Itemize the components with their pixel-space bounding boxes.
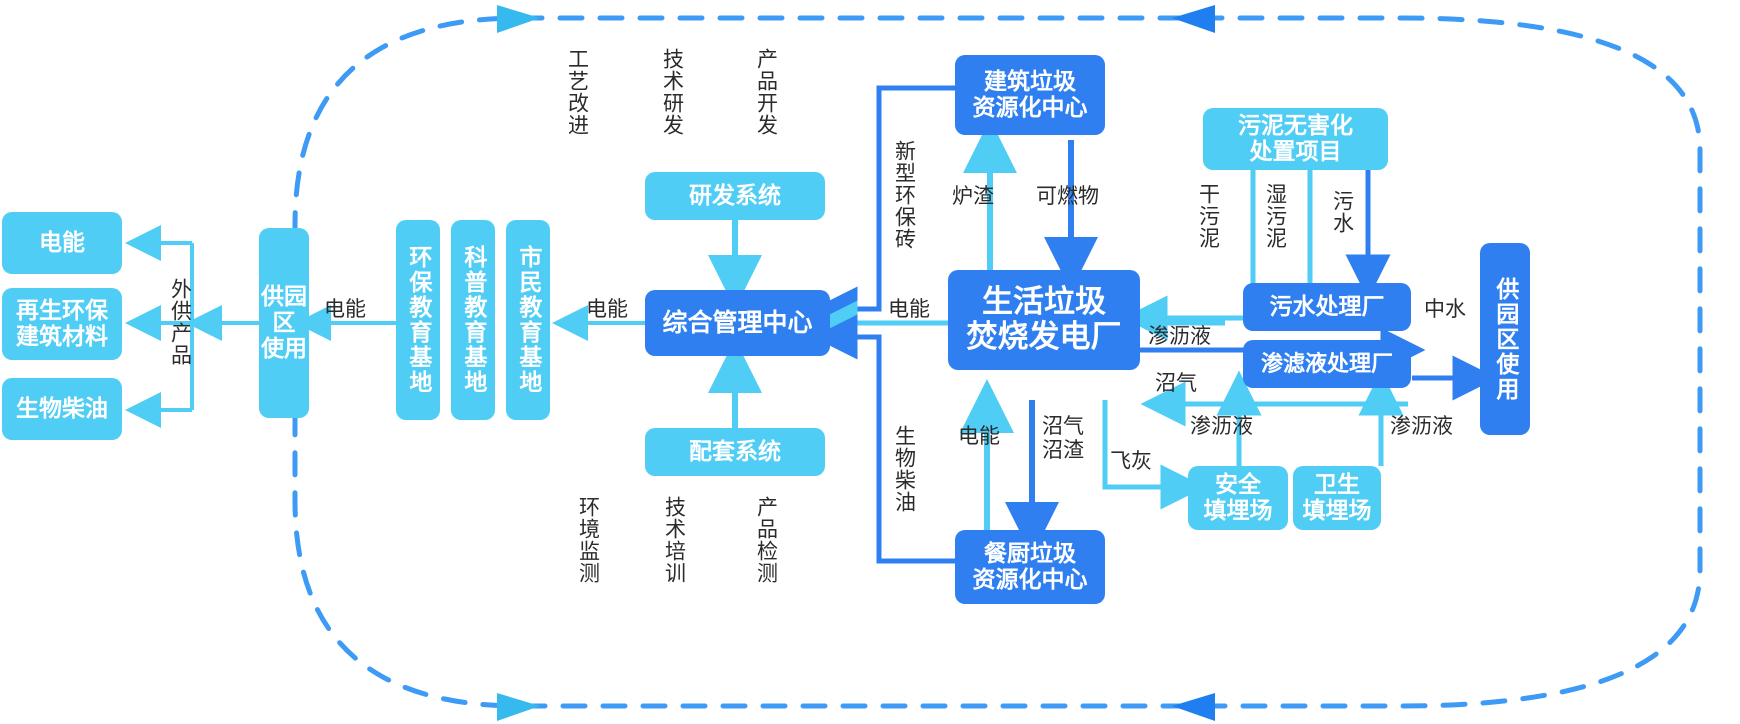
- node-label: 研发系统: [689, 183, 781, 209]
- node-label: 环保教育基地: [405, 245, 431, 395]
- node-label: 科普教育基地: [460, 245, 486, 395]
- node-label: 配套系统: [689, 439, 781, 465]
- label-leachate-3: 渗沥液: [1390, 415, 1453, 439]
- node-label: 供园区 使用: [259, 284, 309, 361]
- label-environmental-monitoring: 环境监测: [576, 496, 600, 584]
- label-wet-sludge: 湿污泥: [1263, 183, 1287, 249]
- node-sludge-harmless-project[interactable]: 污泥无害化 处置项目: [1203, 108, 1388, 170]
- node-kitchen-waste-center[interactable]: 餐厨垃圾 资源化中心: [955, 530, 1105, 604]
- label-furnace-slag: 炉渣: [952, 185, 994, 209]
- label-product-testing: 产品检测: [754, 496, 778, 584]
- node-label: 综合管理中心: [662, 309, 812, 337]
- node-label: 供园区使用: [1492, 277, 1518, 402]
- label-process-improvement: 工艺改进: [565, 48, 589, 136]
- node-park-use-right[interactable]: 供园区使用: [1480, 243, 1530, 435]
- node-support-system[interactable]: 配套系统: [645, 428, 825, 476]
- label-combustibles: 可燃物: [1036, 185, 1099, 209]
- label-electricity-c: 电能: [888, 298, 930, 322]
- node-label: 污水处理厂: [1270, 294, 1385, 320]
- label-fly-ash: 飞灰: [1110, 450, 1152, 474]
- node-park-use-left[interactable]: 供园区 使用: [259, 228, 309, 418]
- node-label: 渗滤液处理厂: [1261, 352, 1393, 377]
- node-leachate-treatment-plant[interactable]: 渗滤液处理厂: [1243, 340, 1411, 388]
- label-biodiesel-flow: 生物柴油: [892, 425, 916, 513]
- label-dry-sludge: 干污泥: [1196, 183, 1220, 249]
- node-sewage-treatment-plant[interactable]: 污水处理厂: [1243, 283, 1411, 331]
- node-biodiesel-output[interactable]: 生物柴油: [2, 378, 122, 440]
- label-external-products: 外供产品: [168, 278, 192, 366]
- label-technical-training: 技术培训: [662, 496, 686, 584]
- node-label: 餐厨垃圾 资源化中心: [973, 541, 1088, 593]
- node-sanitary-landfill[interactable]: 卫生 填埋场: [1293, 466, 1381, 530]
- node-rd-system[interactable]: 研发系统: [645, 172, 825, 220]
- label-electricity-b: 电能: [586, 298, 628, 322]
- node-recycled-materials[interactable]: 再生环保 建筑材料: [2, 288, 122, 360]
- label-new-eco-brick: 新型环保砖: [892, 140, 916, 250]
- node-label: 卫生 填埋场: [1303, 472, 1372, 524]
- label-reclaimed-water: 中水: [1424, 298, 1466, 322]
- node-env-education-base[interactable]: 环保教育基地: [396, 220, 440, 420]
- node-citizen-education-base[interactable]: 市民教育基地: [506, 220, 550, 420]
- node-label: 电能: [39, 230, 85, 256]
- node-electricity-output[interactable]: 电能: [2, 212, 122, 274]
- label-product-development: 产品开发: [754, 48, 778, 136]
- label-sewage: 污水: [1330, 190, 1354, 234]
- node-safe-landfill[interactable]: 安全 填埋场: [1188, 466, 1288, 530]
- node-label: 安全 填埋场: [1204, 472, 1273, 524]
- label-biogas-top: 沼气: [1155, 372, 1197, 396]
- node-construction-waste-center[interactable]: 建筑垃圾 资源化中心: [955, 55, 1105, 135]
- diagram-canvas: 电能 再生环保 建筑材料 生物柴油 供园区 使用 环保教育基地 科普教育基地 市…: [0, 0, 1740, 724]
- node-label: 生活垃圾 焚烧发电厂: [967, 285, 1122, 354]
- node-label: 市民教育基地: [515, 245, 541, 395]
- label-biogas-slag: 沼气 沼渣: [1042, 415, 1084, 462]
- node-management-center[interactable]: 综合管理中心: [645, 290, 830, 356]
- label-tech-rd: 技术研发: [660, 48, 684, 136]
- label-leachate-2: 渗沥液: [1190, 415, 1253, 439]
- label-leachate-1: 渗沥液: [1148, 325, 1211, 349]
- node-label: 建筑垃圾 资源化中心: [973, 69, 1088, 121]
- node-science-education-base[interactable]: 科普教育基地: [451, 220, 495, 420]
- label-electricity-a: 电能: [324, 298, 366, 322]
- node-incineration-power-plant[interactable]: 生活垃圾 焚烧发电厂: [948, 270, 1140, 370]
- node-label: 再生环保 建筑材料: [16, 298, 108, 350]
- label-electricity-d: 电能: [958, 425, 1000, 449]
- node-label: 污泥无害化 处置项目: [1238, 113, 1353, 165]
- node-label: 生物柴油: [16, 396, 108, 422]
